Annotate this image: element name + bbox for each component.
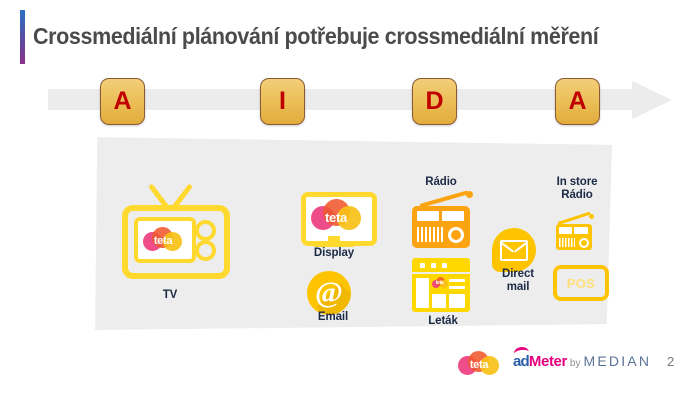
teta-logo-text: teta xyxy=(457,359,501,371)
envelope-icon xyxy=(500,240,528,261)
letak-icon[interactable]: teta xyxy=(412,258,474,314)
at-sign-icon: @ xyxy=(307,271,351,315)
radio-speaker-grill xyxy=(559,238,575,247)
direct-mail-label: Direct mail xyxy=(482,268,554,294)
aida-step-letter: D xyxy=(425,89,443,114)
aida-step-letter: A xyxy=(568,89,586,114)
aida-step-desire[interactable]: D xyxy=(412,78,457,125)
letak-label: Leták xyxy=(404,315,482,328)
tv-icon[interactable]: teta xyxy=(110,178,230,270)
aida-step-interest[interactable]: I xyxy=(260,78,305,125)
in-store-radio-icon[interactable] xyxy=(556,214,596,252)
direct-mail-label-line2: mail xyxy=(482,281,554,294)
flyer-header xyxy=(412,258,470,272)
tv-label: TV xyxy=(110,289,230,302)
radio-dial xyxy=(579,238,589,248)
speech-bubble-shape xyxy=(492,228,536,272)
teta-logo: teta xyxy=(308,198,364,232)
display-icon[interactable]: teta xyxy=(295,192,373,250)
pos-icon[interactable]: POS xyxy=(553,265,609,301)
slide-canvas: Crossmediální plánování potřebuje crossm… xyxy=(0,0,700,411)
radio-dial xyxy=(448,227,464,243)
pos-label: POS xyxy=(567,276,595,291)
teta-logo: teta xyxy=(141,226,185,252)
teta-logo-text: teta xyxy=(308,210,364,225)
tv-screen: teta xyxy=(134,217,196,263)
radio-speaker-grill xyxy=(417,227,443,242)
teta-logo-text: teta xyxy=(141,235,185,247)
tv-body: teta xyxy=(122,205,230,279)
in-store-label-line2: Rádio xyxy=(534,189,620,202)
radio-icon[interactable] xyxy=(412,193,474,251)
aida-step-action[interactable]: A xyxy=(555,78,600,125)
in-store-label: In store Rádio xyxy=(534,176,620,202)
title-accent-bar xyxy=(20,10,25,64)
slide-number: 2 xyxy=(667,354,674,369)
tv-knob xyxy=(195,220,216,241)
teta-logo-text: teta xyxy=(432,280,447,286)
teta-logo: teta xyxy=(432,277,447,290)
admeter-logo: adMeterbyMEDIAN xyxy=(513,353,651,371)
display-label: Display xyxy=(285,247,383,260)
email-label: Email xyxy=(297,311,369,324)
aida-arrow-head xyxy=(632,81,672,119)
admeter-meter-text: Meter xyxy=(529,353,567,370)
footer-teta-logo: teta xyxy=(457,351,501,373)
tv-knob xyxy=(195,240,216,261)
aida-step-letter: I xyxy=(279,89,286,114)
admeter-by-text: by xyxy=(570,358,581,369)
admeter-median-text: MEDIAN xyxy=(583,353,651,369)
radio-body xyxy=(412,206,470,248)
radio-label: Rádio xyxy=(405,176,477,189)
aida-step-letter: A xyxy=(113,89,131,114)
admeter-swoosh-icon xyxy=(513,346,530,360)
in-store-label-line1: In store xyxy=(534,176,620,189)
aida-step-attention[interactable]: A xyxy=(100,78,145,125)
flyer-body: teta xyxy=(412,274,470,312)
direct-mail-label-line1: Direct xyxy=(482,268,554,281)
tv-antenna-icon xyxy=(138,178,200,208)
radio-body xyxy=(556,224,592,250)
page-title: Crossmediální plánování potřebuje crossm… xyxy=(33,23,655,50)
